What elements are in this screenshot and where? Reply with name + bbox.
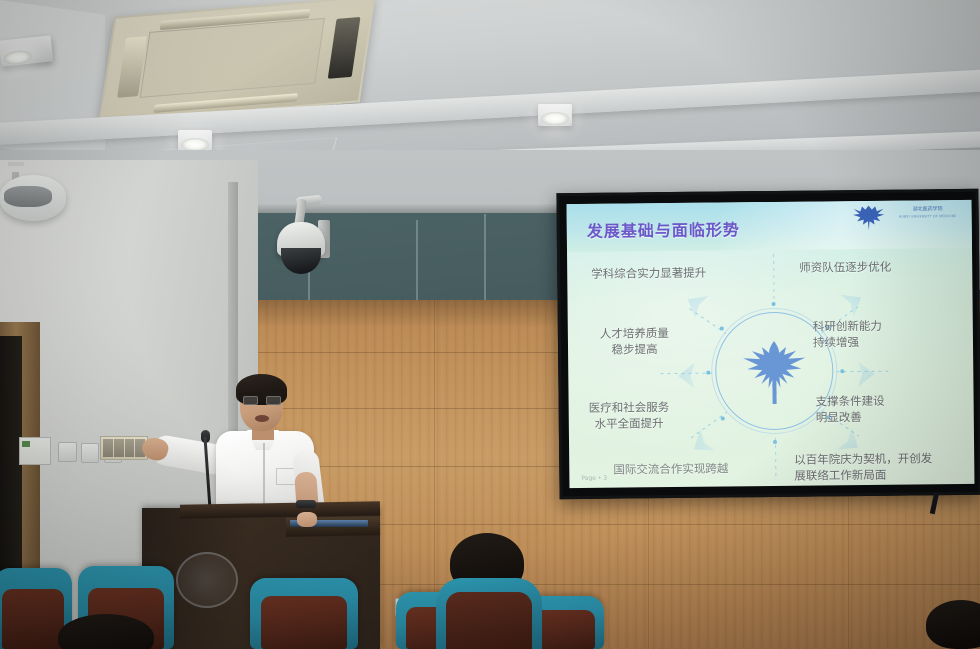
notice-plate	[19, 437, 51, 465]
lecture-hall-photo: 湖北医药学院 HUBEI UNIVERSITY OF MEDICINE 发展基础…	[0, 0, 980, 649]
seat-back-front-row	[446, 592, 532, 649]
slide-item-low-right: 支撑条件建设 明显改善	[816, 393, 885, 426]
slide-item-top-right: 师资队伍逐步优化	[799, 259, 891, 276]
auditorium-seat	[250, 578, 358, 649]
slide-title: 发展基础与面临形势	[587, 216, 740, 242]
ceiling-light-2	[538, 104, 572, 126]
slide-item-mid-left: 人才培养质量 稳步提高	[600, 325, 669, 358]
slide-page-footer: Page • 3	[581, 475, 607, 482]
slide-item-bottom-right: 以百年院庆为契机，开创发 展联络工作新局面	[794, 450, 932, 484]
institution-logo-icon	[852, 204, 886, 232]
ceiling-light-1	[178, 130, 212, 152]
projection-screen: 湖北医药学院 HUBEI UNIVERSITY OF MEDICINE 发展基础…	[556, 189, 980, 499]
slide-item-low-left: 医疗和社会服务 水平全面提升	[589, 399, 670, 432]
light-switch-panel-2[interactable]	[81, 443, 99, 463]
presenter-mouth	[255, 415, 269, 422]
caduceus-medical-emblem	[738, 338, 811, 409]
speaker-mount-rod	[8, 162, 24, 166]
ceiling-light-3	[0, 35, 53, 66]
power-outlet-strip[interactable]	[100, 436, 148, 460]
presenter-right-hand	[297, 512, 317, 527]
wristwatch-icon	[296, 500, 316, 508]
glasses-icon	[243, 396, 281, 405]
audience-member-head	[926, 600, 980, 649]
slide-item-top-left: 学科综合实力显著提升	[591, 265, 706, 283]
slide-item-mid-right: 科研创新能力 持续增强	[813, 318, 882, 351]
presentation-slide: 湖北医药学院 HUBEI UNIVERSITY OF MEDICINE 发展基础…	[567, 200, 975, 488]
institution-seal-icon	[176, 552, 238, 608]
wall-speaker	[0, 175, 66, 221]
slide-item-bottom-left: 国际交流合作实现跨越	[613, 460, 728, 478]
light-switch-panel[interactable]	[58, 442, 77, 462]
institution-name: 湖北医药学院 HUBEI UNIVERSITY OF MEDICINE	[892, 206, 964, 219]
